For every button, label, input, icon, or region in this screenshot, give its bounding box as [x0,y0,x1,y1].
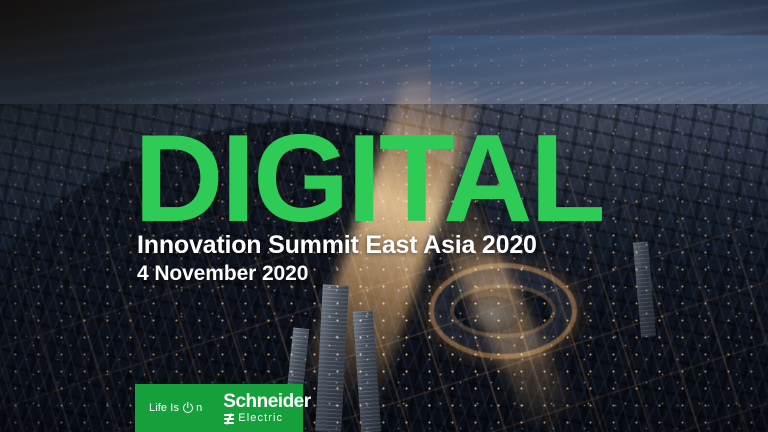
slide-subtitle: Innovation Summit East Asia 2020 [137,233,537,258]
slide-date: 4 November 2020 [137,263,308,284]
tagline-text-after: n [196,402,202,414]
tagline-text-before: Life Is [149,402,179,414]
brand-sub-name: Electric [238,413,283,424]
brand-subline: Electric [223,413,310,424]
life-is-on-tagline: Life Is n [135,402,202,414]
schneider-s-mark-icon [223,413,235,424]
schneider-electric-logo: Life Is n Schneider Electr [135,384,303,432]
slide-title: DIGITAL [134,117,603,241]
slide-content: DIGITAL Innovation Summit East Asia 2020… [0,0,768,432]
power-icon-bar [187,402,188,408]
brand-wordmark: Schneider Electric [223,392,310,424]
power-on-icon [183,403,193,413]
brand-name: Schneider [223,392,310,411]
presentation-slide: DIGITAL Innovation Summit East Asia 2020… [0,0,768,432]
